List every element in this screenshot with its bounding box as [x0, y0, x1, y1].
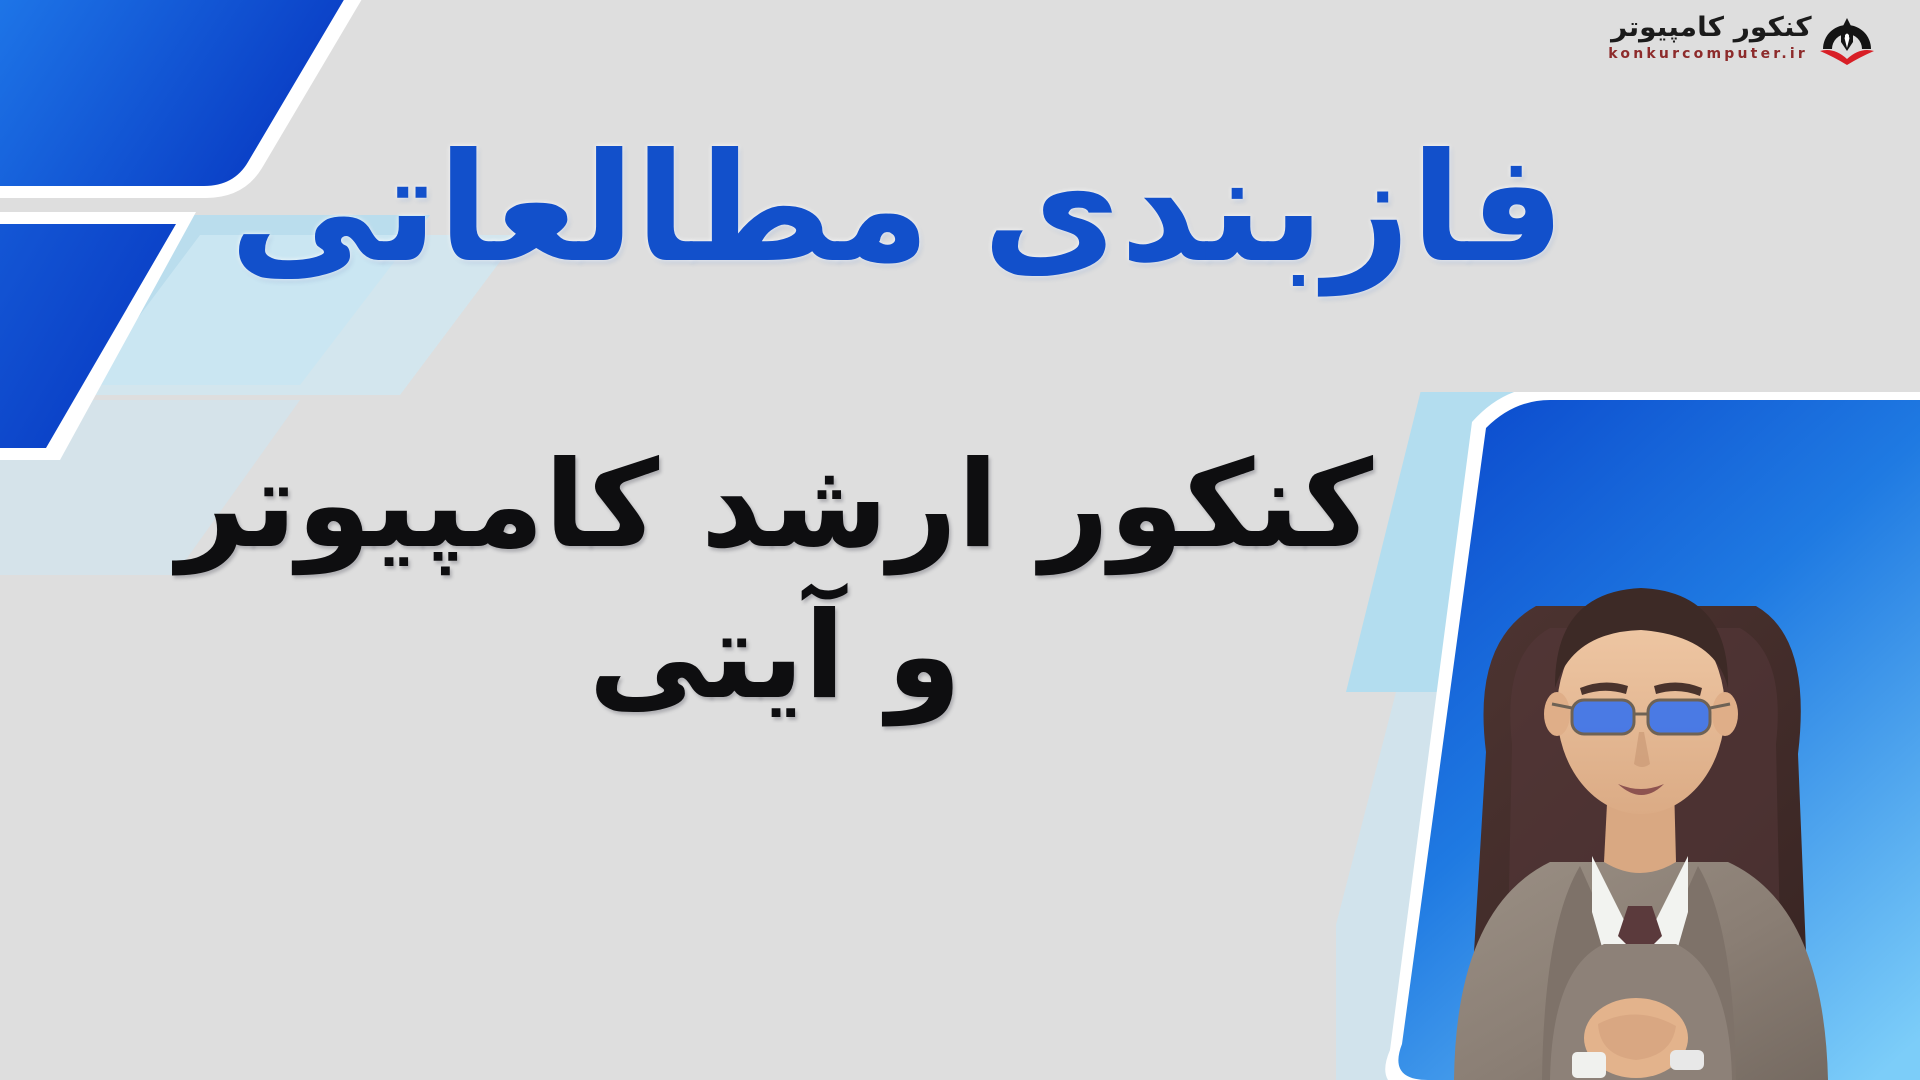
pen-nib-in-arc-logo-icon [1818, 9, 1876, 65]
slide-canvas: کنکور کامپیوتر konkurcomputer.ir فازبندی… [0, 0, 1920, 1080]
white-outline-bottom [0, 212, 196, 460]
presenter-video-panel [1336, 392, 1920, 1080]
red-swoosh-icon [1820, 50, 1874, 65]
brand-url: konkurcomputer.ir [1608, 47, 1808, 61]
page-title: فازبندی مطالعاتی [265, 128, 1565, 290]
page-subtitle: کنکور ارشد کامپیوتر و آیتی [160, 430, 1390, 732]
brand-name-fa: کنکور کامپیوتر [1611, 14, 1811, 41]
wristwatch [1670, 1050, 1704, 1070]
subtitle-line-2: و آیتی [160, 581, 1390, 732]
subtitle-line-1: کنکور ارشد کامپیوتر [177, 436, 1373, 575]
blue-parallelogram-bottom [0, 224, 176, 448]
brand-logo-text: کنکور کامپیوتر konkurcomputer.ir [1608, 14, 1808, 61]
brand-logo[interactable]: کنکور کامپیوتر konkurcomputer.ir [1608, 6, 1876, 68]
shirt-cuff [1572, 1052, 1606, 1078]
